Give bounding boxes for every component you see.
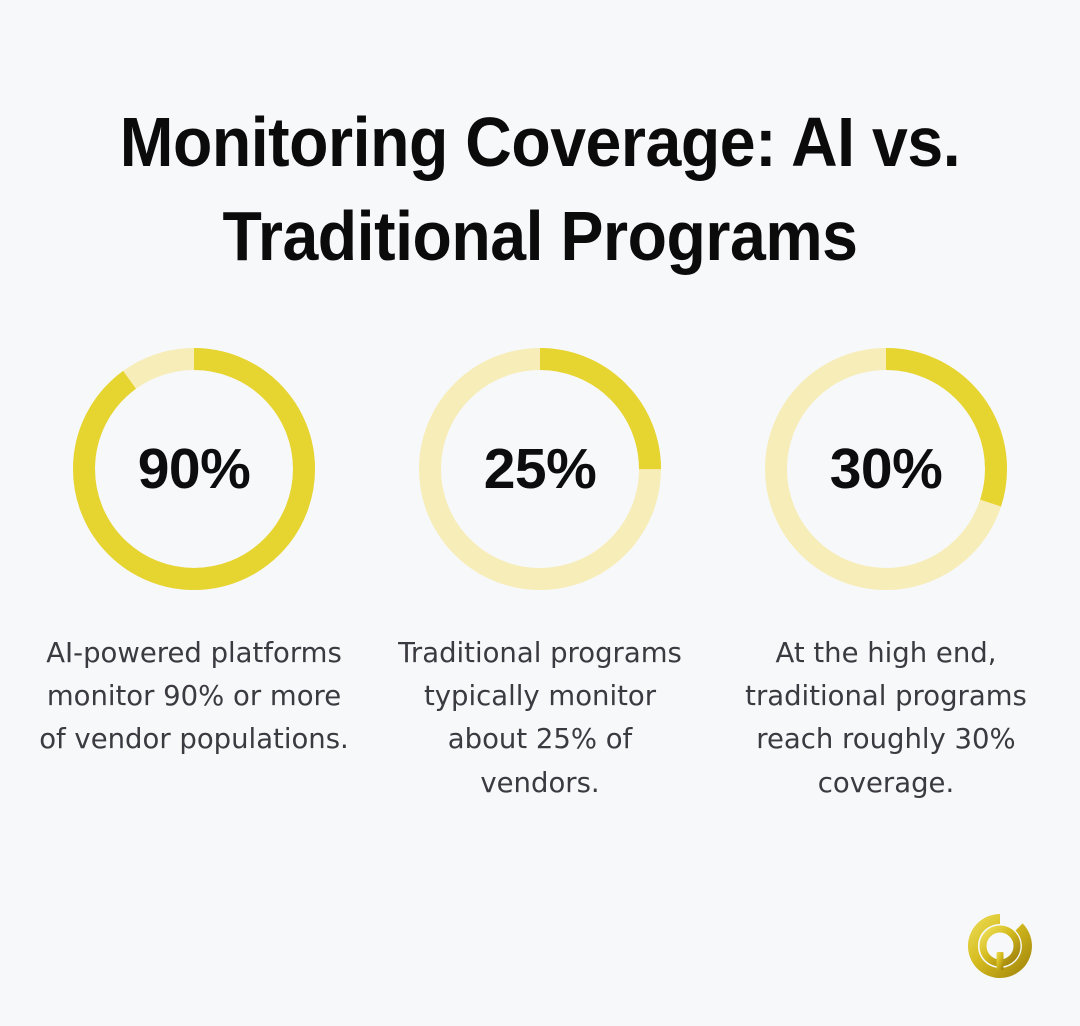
donut-value-label-1: 90% xyxy=(73,348,315,590)
donut-value-label-3: 30% xyxy=(765,348,1007,590)
donut-chart-2: 25% xyxy=(419,348,661,590)
donut-card-traditional-typical-coverage: 25% Traditional programs typically monit… xyxy=(367,348,713,805)
donut-value-label-2: 25% xyxy=(419,348,661,590)
donut-caption-1: AI-powered platforms monitor 90% or more… xyxy=(39,632,349,762)
donut-chart-1: 90% xyxy=(73,348,315,590)
donut-chart-3: 30% xyxy=(765,348,1007,590)
cq-monogram-icon xyxy=(962,908,1038,984)
donut-card-ai-powered-coverage: 90% AI-powered platforms monitor 90% or … xyxy=(21,348,367,762)
page-title: Monitoring Coverage: AI vs. Traditional … xyxy=(80,96,1000,284)
donut-caption-3: At the high end, traditional programs re… xyxy=(731,632,1041,805)
title-block: Monitoring Coverage: AI vs. Traditional … xyxy=(40,96,1040,284)
donut-card-traditional-high-end-coverage: 30% At the high end, traditional program… xyxy=(713,348,1059,805)
donut-caption-2: Traditional programs typically monitor a… xyxy=(385,632,695,805)
brand-logo xyxy=(962,908,1038,984)
donut-chart-row: 90% AI-powered platforms monitor 90% or … xyxy=(0,348,1080,805)
infographic-canvas: Monitoring Coverage: AI vs. Traditional … xyxy=(0,0,1080,1026)
